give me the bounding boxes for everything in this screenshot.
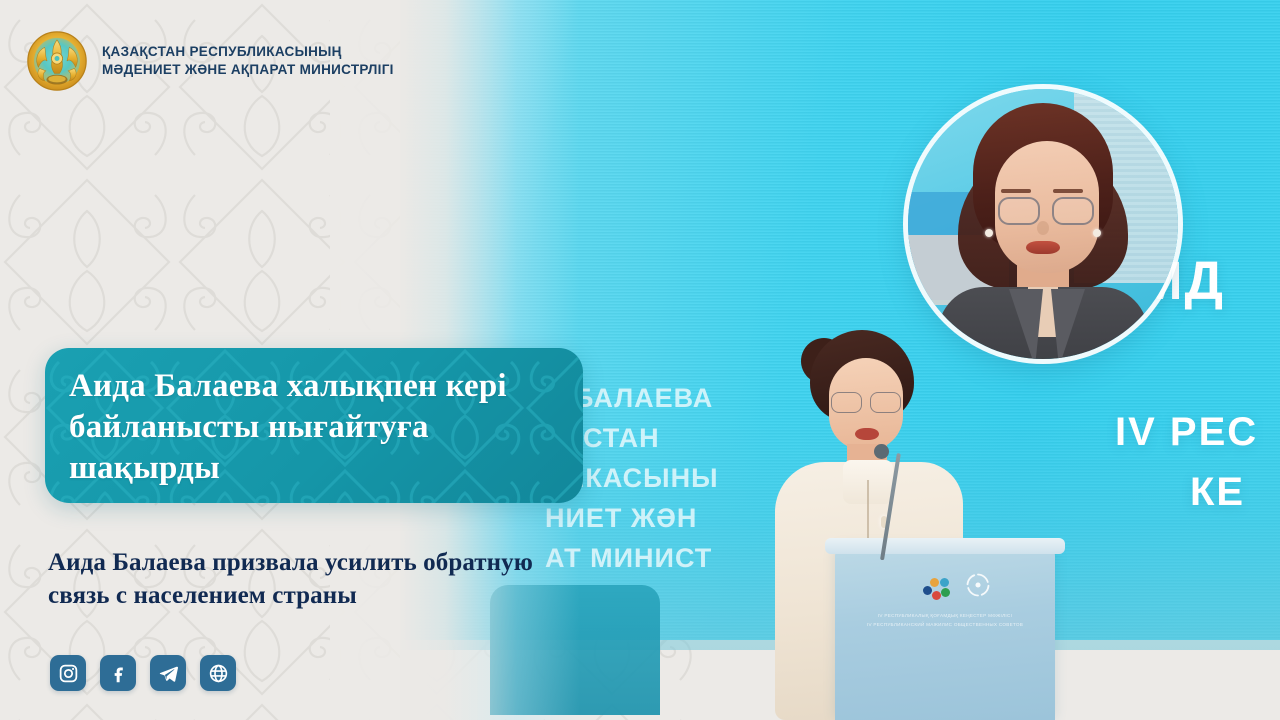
telegram-icon[interactable] xyxy=(150,655,186,691)
podium: IV РЕСПУБЛИКАЛЫҚ ҚОҒАМДЫҚ КЕҢЕСТЕР МӘЖІЛ… xyxy=(835,548,1055,720)
subtitle-text-ru: Аида Балаева призвала усилить обратную с… xyxy=(48,546,568,613)
kazakhstan-state-emblem-icon xyxy=(26,30,88,92)
headline-text-kk: Аида Балаева халықпен кері байланысты ны… xyxy=(69,366,569,489)
circular-portrait xyxy=(908,89,1178,359)
portrait-glasses xyxy=(998,197,1094,223)
speaker-glasses xyxy=(831,392,901,412)
headline-banner: Аида Балаева халықпен кері байланысты ны… xyxy=(45,348,583,503)
instagram-icon[interactable] xyxy=(50,655,86,691)
website-globe-icon[interactable] xyxy=(200,655,236,691)
screen-subline-1: IV РЕС xyxy=(1115,410,1258,455)
podium-text-ru: IV РЕСПУБЛИКАНСКИЙ МАЖИЛИС ОБЩЕСТВЕННЫХ … xyxy=(835,621,1055,630)
screen-subline-2: КЕ xyxy=(1190,470,1245,515)
social-links xyxy=(50,655,236,691)
ministry-line-2: МӘДЕНИЕТ ЖӘНЕ АҚПАРАТ МИНИСТРЛІГІ xyxy=(102,62,394,78)
ministry-header: ҚАЗАҚСТАН РЕСПУБЛИКАСЫНЫҢ МӘДЕНИЕТ ЖӘНЕ … xyxy=(26,30,394,92)
podium-emblem-dots xyxy=(923,576,957,600)
podium-text-kk: IV РЕСПУБЛИКАЛЫҚ ҚОҒАМДЫҚ КЕҢЕСТЕР МӘЖІЛ… xyxy=(835,612,1055,621)
facebook-icon[interactable] xyxy=(100,655,136,691)
ministry-line-1: ҚАЗАҚСТАН РЕСПУБЛИКАСЫНЫҢ xyxy=(102,44,394,60)
forum-logo-icon xyxy=(963,570,993,600)
microphone-head-icon xyxy=(874,444,889,459)
poster-canvas: А БАЛАЕВА АҚСТАН ЛИКАСЫНЫ НИЕТ ЖӘН АТ МИ… xyxy=(0,0,1280,720)
ministry-title: ҚАЗАҚСТАН РЕСПУБЛИКАСЫНЫҢ МӘДЕНИЕТ ЖӘНЕ … xyxy=(102,44,394,79)
